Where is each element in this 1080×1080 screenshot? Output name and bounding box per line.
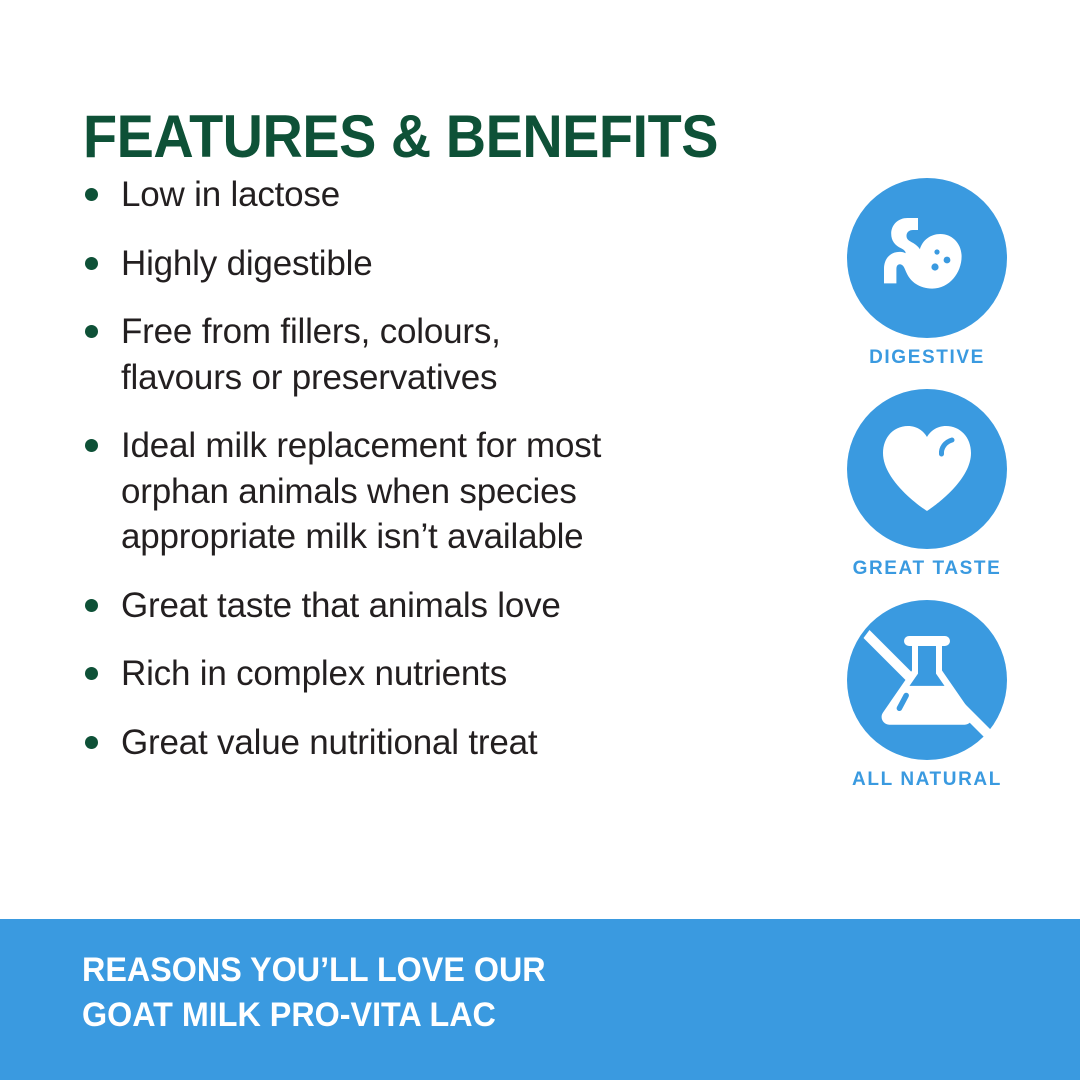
heart-icon xyxy=(879,423,975,515)
infographic-page: FEATURES & BENEFITS Low in lactose Highl… xyxy=(0,0,1080,1080)
list-item-label: Great value nutritional treat xyxy=(121,720,783,766)
list-item: Free from fillers, colours, flavours or … xyxy=(83,309,783,400)
badge-circle xyxy=(847,178,1007,338)
list-item-label: Highly digestible xyxy=(121,241,783,287)
badge-label: DIGESTIVE xyxy=(828,348,1026,367)
bullet-point-icon xyxy=(85,599,98,612)
badge-all-natural: ALL NATURAL xyxy=(828,600,1026,789)
badge-label: ALL NATURAL xyxy=(828,770,1026,789)
bullet-point-icon xyxy=(85,439,98,452)
badge-digestive: DIGESTIVE xyxy=(828,178,1026,367)
stomach-icon xyxy=(875,206,979,310)
bullet-point-icon xyxy=(85,736,98,749)
bullet-point-icon xyxy=(85,325,98,338)
list-item: Rich in complex nutrients xyxy=(83,651,783,697)
list-item-label: Free from fillers, colours, flavours or … xyxy=(121,309,783,400)
list-item: Ideal milk replacement for most orphan a… xyxy=(83,423,783,560)
badge-label: GREAT TASTE xyxy=(828,559,1026,578)
banner-heading: REASONS YOU’LL LOVE OUR GOAT MILK PRO-VI… xyxy=(82,948,937,1038)
list-item-label: Rich in complex nutrients xyxy=(121,651,783,697)
benefits-list: Low in lactose Highly digestible Free fr… xyxy=(83,172,783,765)
list-item: Highly digestible xyxy=(83,241,783,287)
list-item-label: Low in lactose xyxy=(121,172,783,218)
badge-circle xyxy=(847,389,1007,549)
page-title: FEATURES & BENEFITS xyxy=(83,106,790,167)
list-item: Low in lactose xyxy=(83,172,783,218)
badge-great-taste: GREAT TASTE xyxy=(828,389,1026,578)
badge-column: DIGESTIVE GREAT TASTE xyxy=(828,178,1026,789)
list-item: Great taste that animals love xyxy=(83,583,783,629)
bullet-point-icon xyxy=(85,257,98,270)
list-item-label: Great taste that animals love xyxy=(121,583,783,629)
bullet-point-icon xyxy=(85,667,98,680)
list-item-label: Ideal milk replacement for most orphan a… xyxy=(121,423,783,560)
no-chemicals-flask-icon xyxy=(847,600,1007,760)
badge-circle xyxy=(847,600,1007,760)
bullet-point-icon xyxy=(85,188,98,201)
list-item: Great value nutritional treat xyxy=(83,720,783,766)
